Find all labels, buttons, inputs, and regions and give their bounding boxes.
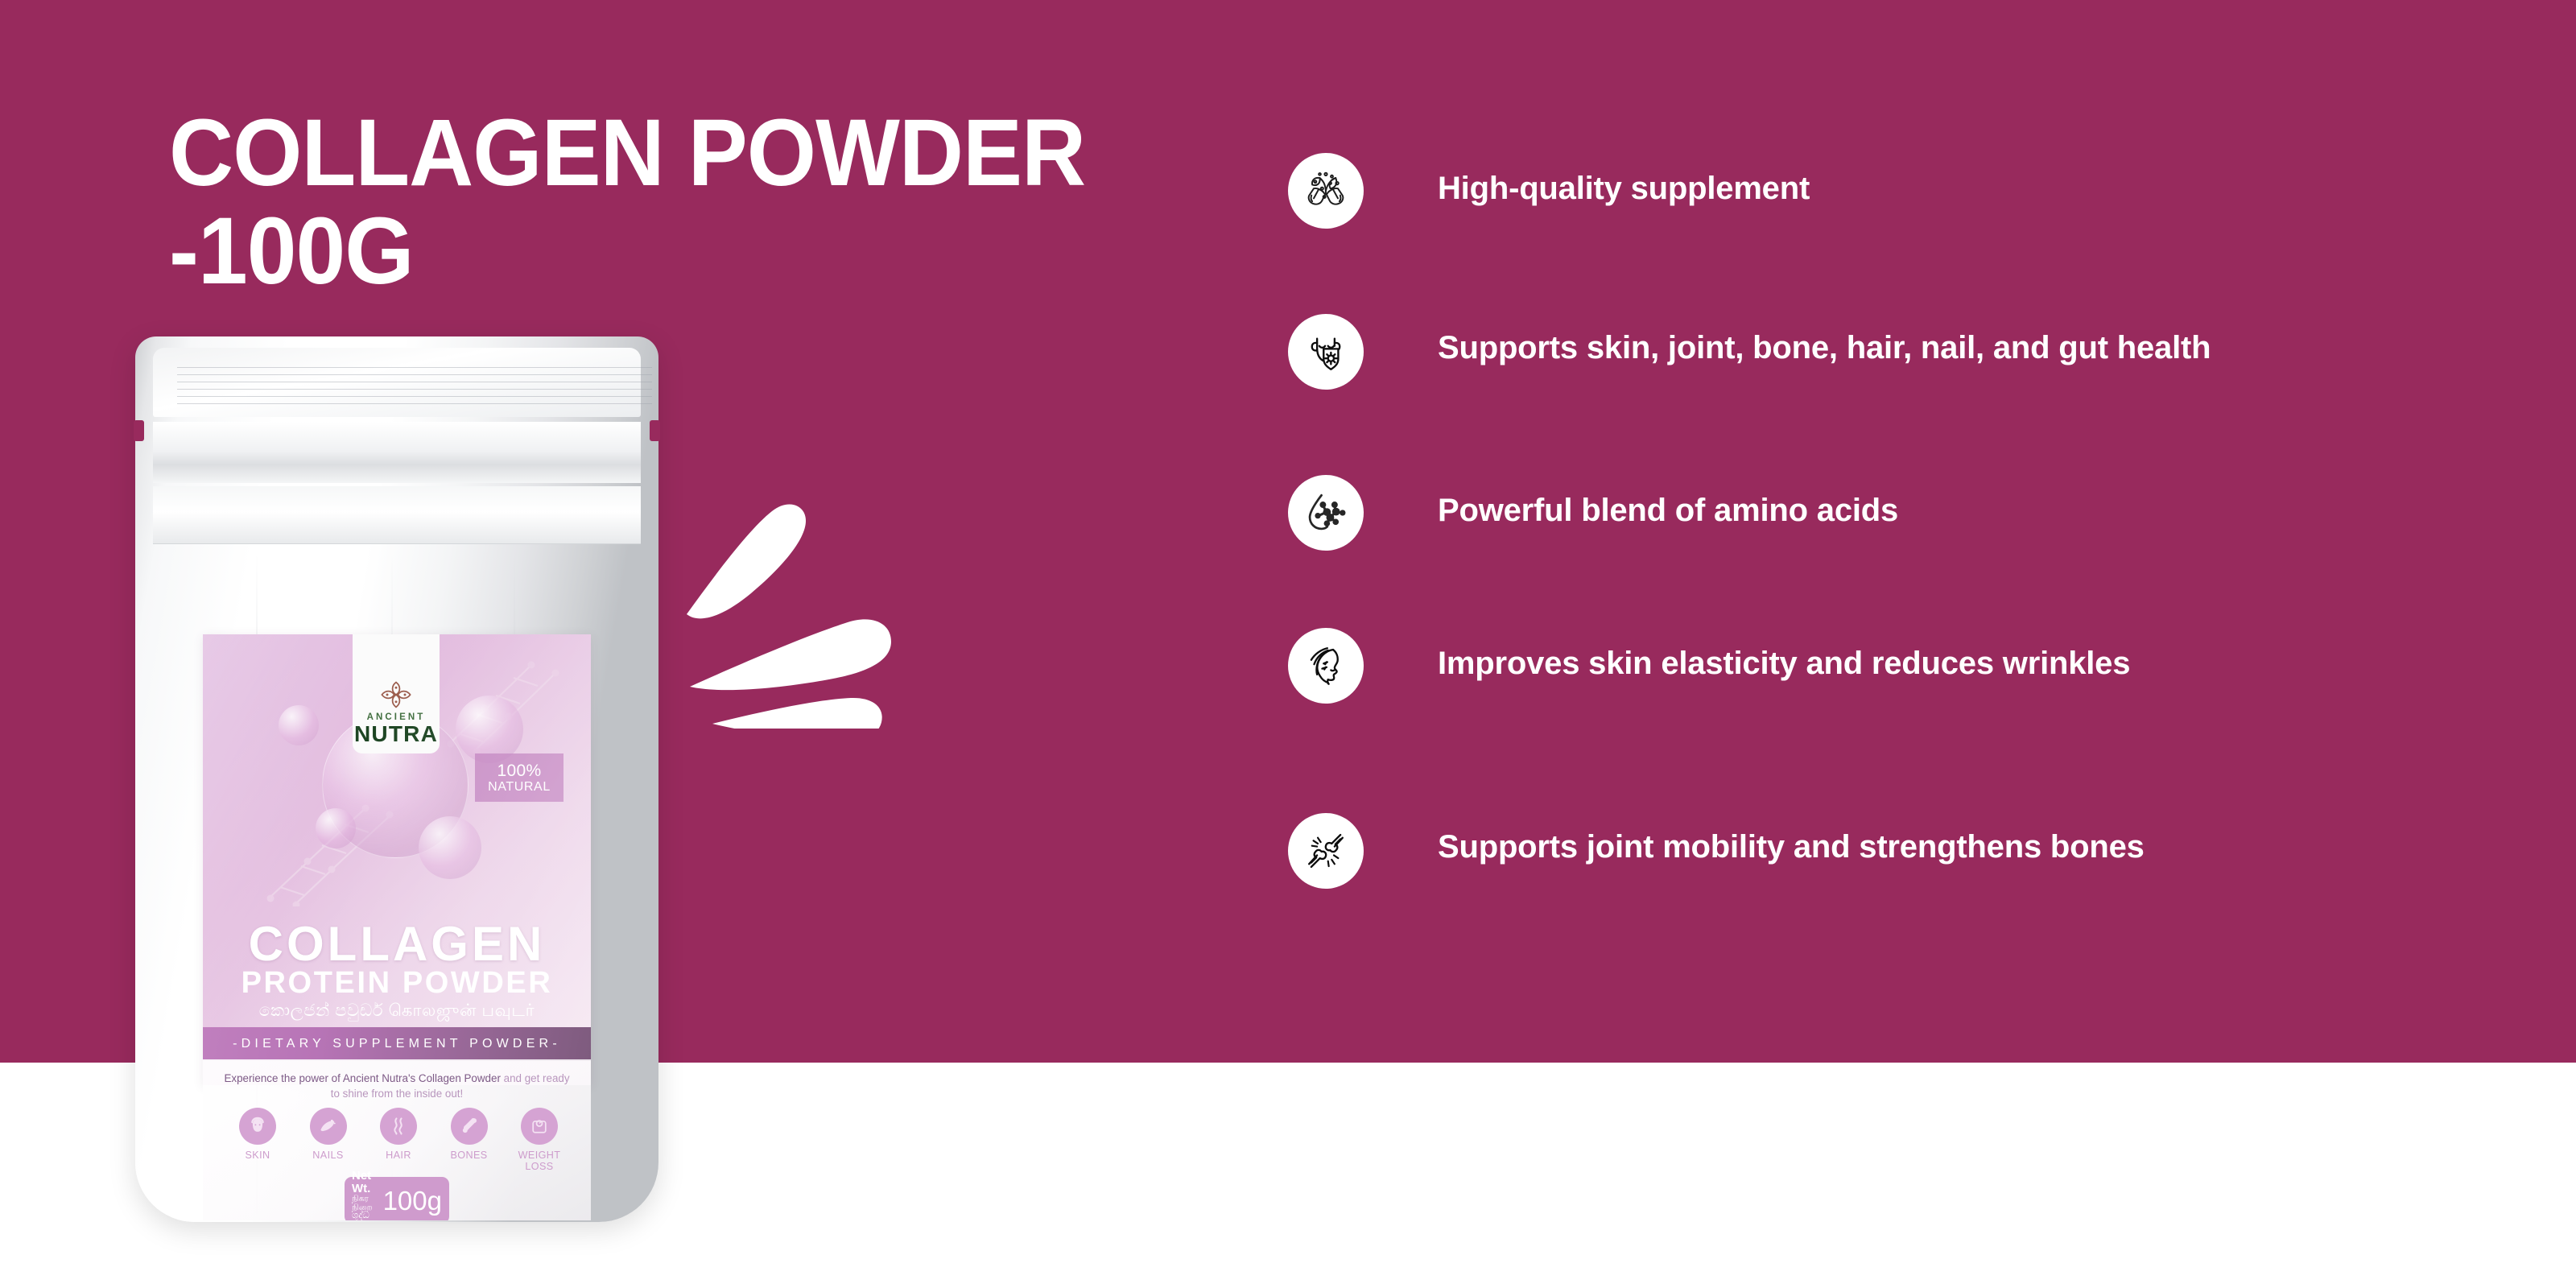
feature-text: Improves skin elasticity and reduces wri…: [1438, 628, 2130, 683]
natural-badge: 100% NATURAL: [475, 753, 563, 802]
feature-text: Supports skin, joint, bone, hair, nail, …: [1438, 314, 2211, 368]
ancient-nutra-ornament-icon: [378, 679, 414, 711]
net-weight-labels: Net Wt. நிகர நிறை ශුද්ධ බර: [352, 1170, 379, 1220]
product-name-protein-powder: PROTEIN POWDER: [203, 968, 591, 998]
splash-decoration-icon: [680, 471, 938, 729]
pouch-zip-seal-top: [153, 348, 641, 417]
benefit-item-hair: HAIR: [366, 1108, 431, 1172]
benefit-label: HAIR: [366, 1150, 431, 1161]
dietary-supplement-bar: -DIETARY SUPPLEMENT POWDER-: [203, 1027, 591, 1061]
feature-text: Supports joint mobility and strengthens …: [1438, 813, 2145, 867]
feature-item-amino-acids: Powerful blend of amino acids: [1288, 475, 1898, 551]
feature-text: High-quality supplement: [1438, 153, 1810, 208]
bubble-decoration: [279, 705, 319, 745]
pouch-zip-bar: [153, 422, 641, 483]
benefit-item-weight-loss: WEIGHT LOSS: [507, 1108, 572, 1172]
tear-notch-left-icon: [134, 420, 144, 441]
title-line-2: -100G: [169, 203, 1183, 301]
benefit-item-bones: BONES: [437, 1108, 502, 1172]
benefit-icons-row: SKIN NAILS HAIR: [225, 1108, 572, 1172]
bubble-decoration: [419, 816, 481, 879]
face-shield-icon: [1288, 314, 1364, 390]
product-banner: COLLAGEN POWDER -100G: [0, 0, 2576, 1288]
droplet-molecule-icon: [1288, 475, 1364, 551]
badge-natural-label: NATURAL: [488, 781, 551, 794]
face-profile-icon: [1288, 628, 1364, 704]
feature-item-supports-health: Supports skin, joint, bone, hair, nail, …: [1288, 314, 2211, 390]
feature-text: Powerful blend of amino acids: [1438, 475, 1898, 530]
tagline-strong: Experience the power of Ancient Nutra's …: [224, 1072, 503, 1084]
net-weight-value: 100g: [383, 1187, 442, 1214]
bone-joint-icon: [1288, 813, 1364, 889]
bubble-decoration: [316, 808, 356, 848]
skin-face-icon: [239, 1108, 276, 1145]
benefit-label: NAILS: [296, 1150, 361, 1161]
weight-scale-icon: [521, 1108, 558, 1145]
capsule-sprout-icon: [1288, 153, 1364, 229]
net-weight-label-en: Net Wt.: [352, 1170, 379, 1195]
label-info-panel: Experience the power of Ancient Nutra's …: [203, 1059, 591, 1220]
pouch-zip-bar-lower: [153, 486, 641, 544]
bone-icon: [451, 1108, 488, 1145]
badge-percent: 100%: [497, 762, 542, 779]
feature-item-joint-mobility: Supports joint mobility and strengthens …: [1288, 813, 2145, 889]
benefit-item-skin: SKIN: [225, 1108, 290, 1172]
product-tagline: Experience the power of Ancient Nutra's …: [219, 1071, 575, 1101]
benefit-label: BONES: [437, 1150, 502, 1161]
brand-logo-plaque: ANCIENT NUTRA: [353, 634, 440, 753]
product-pouch-image: ANCIENT NUTRA 100% NATURAL COLLAGEN PROT…: [135, 336, 658, 1222]
benefit-label: WEIGHT LOSS: [507, 1150, 572, 1172]
title-line-1: COLLAGEN POWDER: [169, 100, 1085, 206]
net-weight-badge: Net Wt. நிகர நிறை ශුද්ධ බර 100g: [345, 1177, 449, 1220]
brand-name-main: NUTRA: [354, 723, 438, 745]
nail-hand-icon: [310, 1108, 347, 1145]
hair-strand-icon: [380, 1108, 417, 1145]
zip-seal-lines: [177, 364, 652, 417]
net-weight-label-ta: நிகர நிறை: [352, 1195, 379, 1212]
benefit-item-nails: NAILS: [296, 1108, 361, 1172]
product-label: ANCIENT NUTRA 100% NATURAL COLLAGEN PROT…: [203, 634, 591, 1085]
feature-item-supplement: High-quality supplement: [1288, 153, 1810, 229]
net-weight-label-si: ශුද්ධ බර: [352, 1212, 379, 1220]
feature-item-skin-elasticity: Improves skin elasticity and reduces wri…: [1288, 628, 2130, 704]
product-name-local-languages: කොලජන් පවුඩර් கொலஜுன் பவுடர்: [203, 1001, 591, 1020]
page-title: COLLAGEN POWDER -100G: [169, 105, 1183, 300]
product-name-collagen: COLLAGEN: [203, 920, 591, 968]
tear-notch-right-icon: [650, 420, 660, 441]
benefit-label: SKIN: [225, 1150, 290, 1161]
